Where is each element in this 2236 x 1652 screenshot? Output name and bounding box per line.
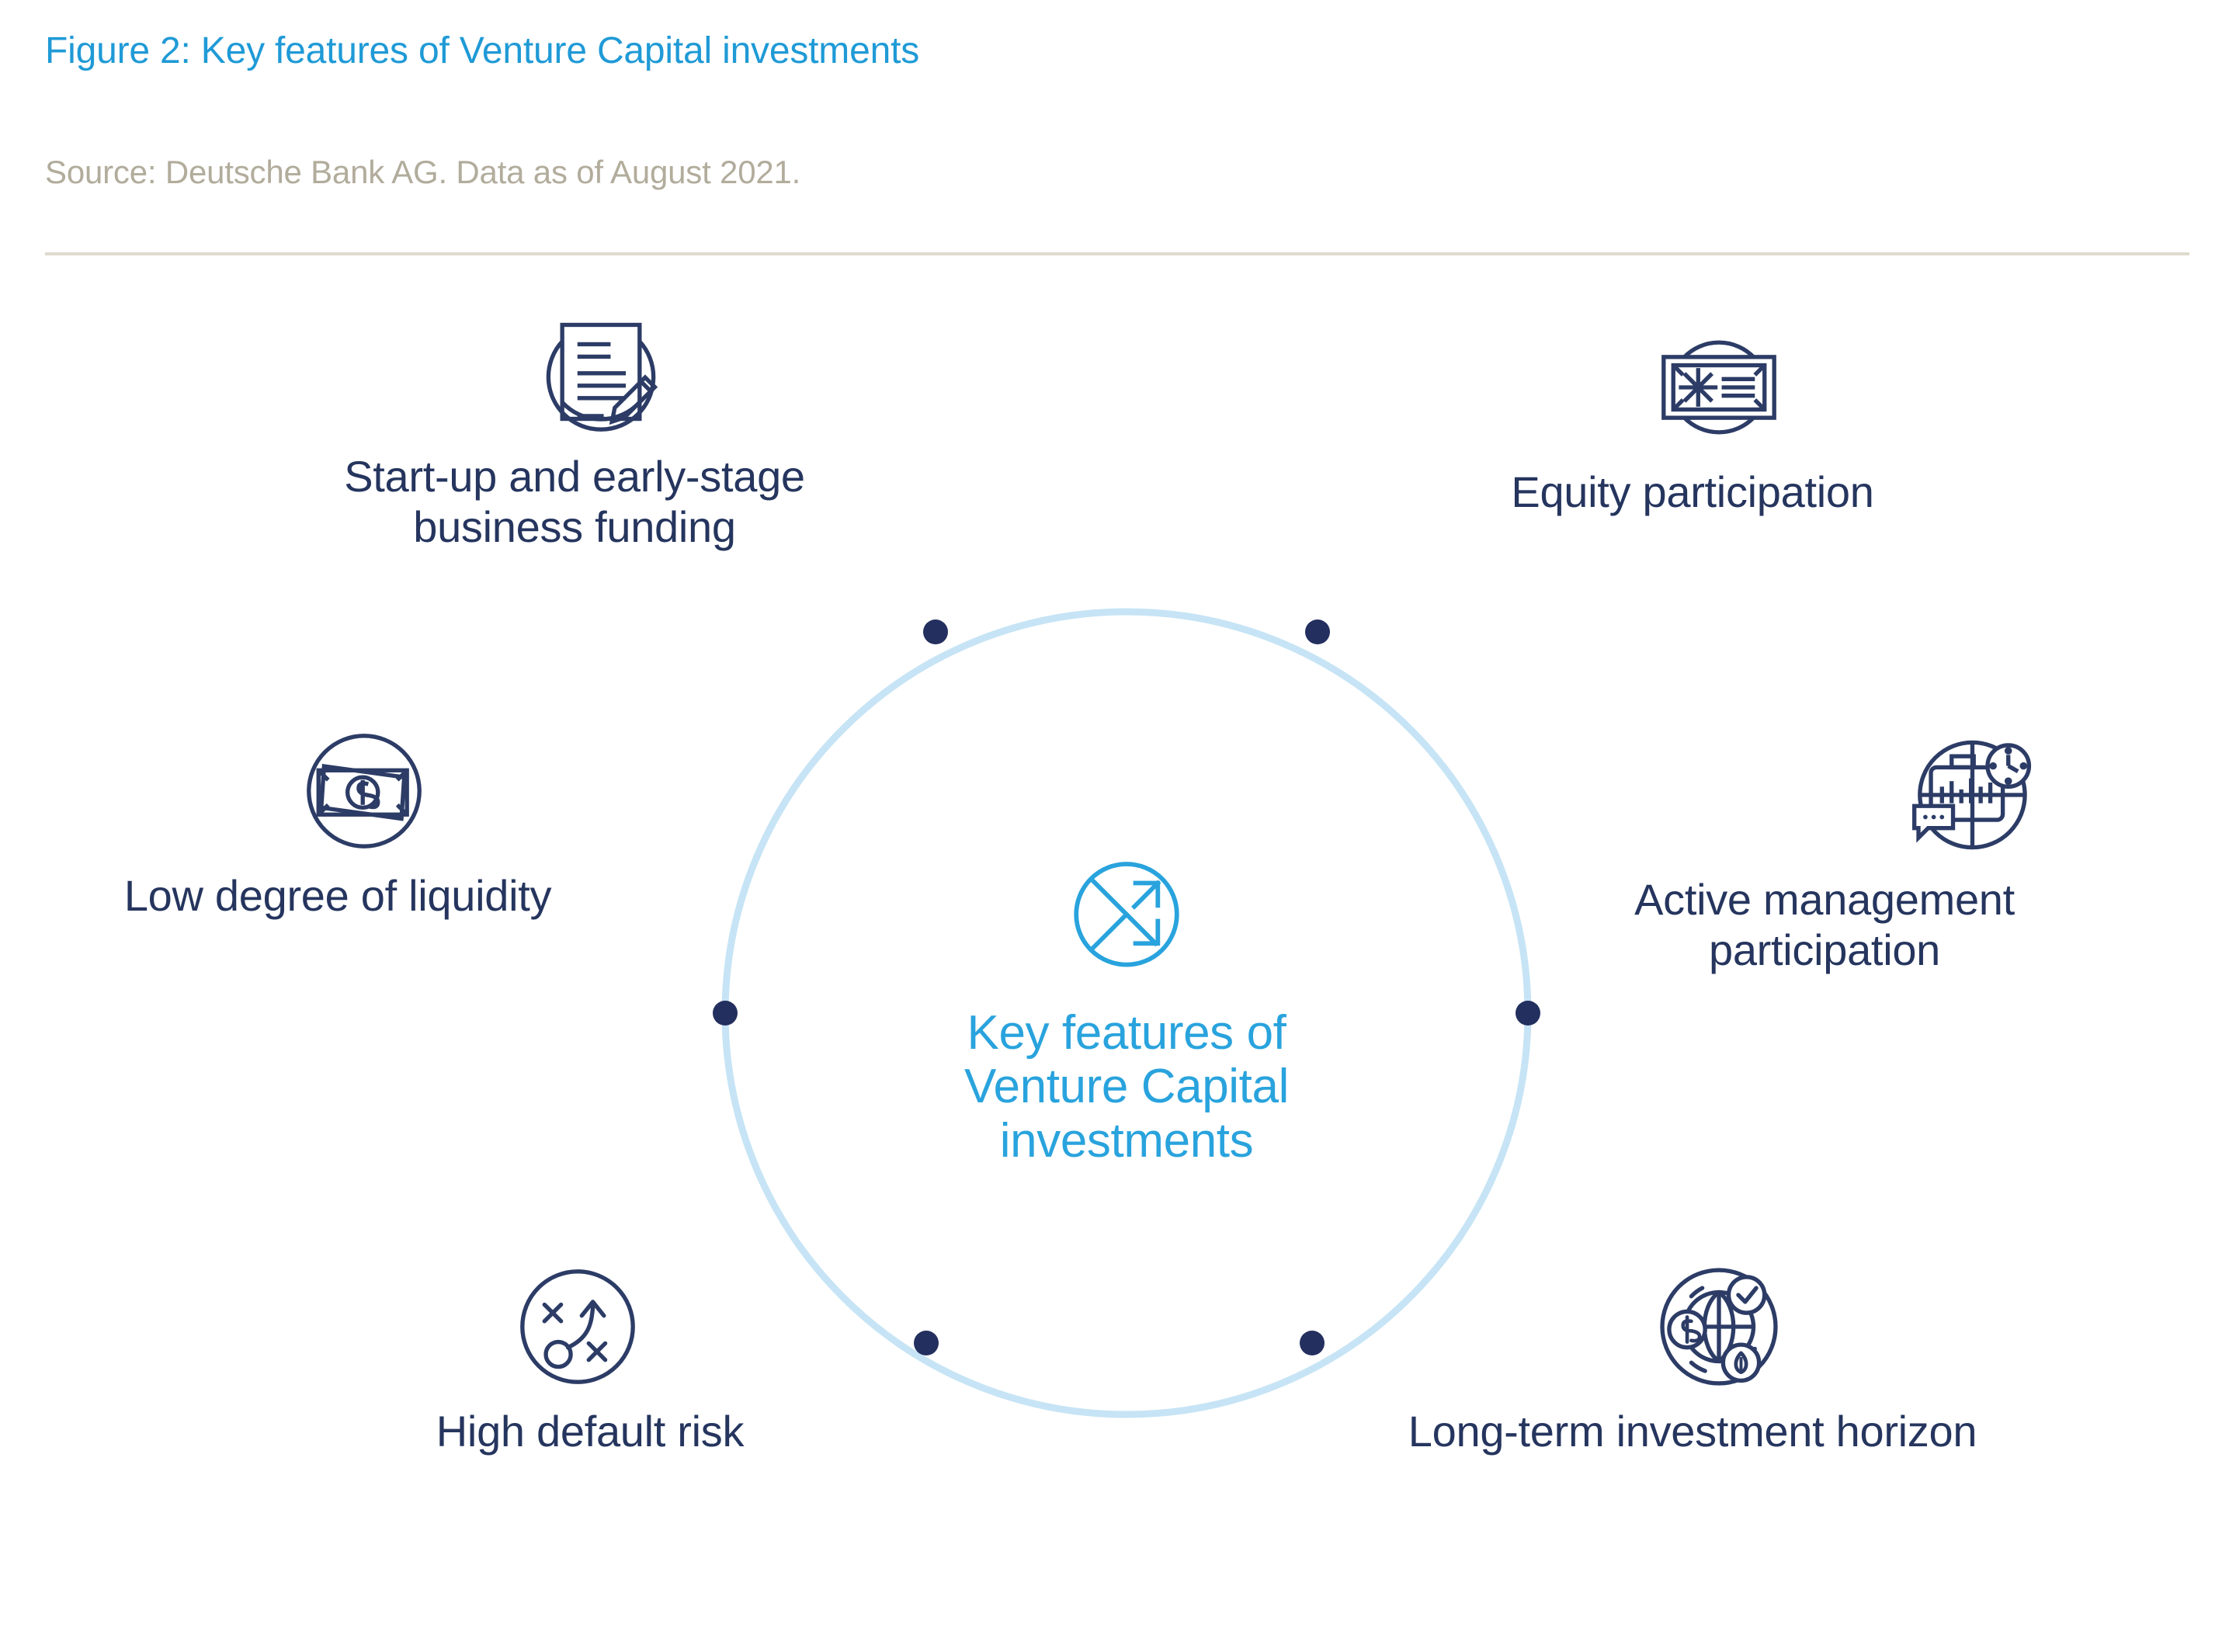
label-line-1: Long-term investment horizon xyxy=(1343,1407,2042,1457)
feature-node-startup-label: Start-up and early-stage business fundin… xyxy=(225,452,924,553)
figure-source-note: Source: Deutsche Bank AG. Data as of Aug… xyxy=(45,154,800,191)
feature-node-equity[interactable]: Equity participation xyxy=(1343,318,2042,518)
label-line-2: business funding xyxy=(225,502,924,553)
ring-dot-bottom-right xyxy=(1300,1331,1325,1355)
label-line-2: participation xyxy=(1475,925,2174,976)
banknotes-dollar-icon xyxy=(295,722,433,860)
ring-dot-right xyxy=(1516,1001,1540,1026)
hub-center-label-line-3: investments xyxy=(832,1114,1422,1168)
feature-node-equity-label: Equity participation xyxy=(1343,467,2042,518)
feature-node-horizon[interactable]: Long-term investment horizon xyxy=(1343,1258,2042,1457)
ring-dot-top-right xyxy=(1305,619,1330,644)
ring-dot-left xyxy=(713,1001,738,1026)
share-certificate-icon xyxy=(1650,318,1788,456)
feature-node-liquidity-label: Low degree of liquidity xyxy=(0,871,687,921)
hub-center-label-line-2: Venture Capital xyxy=(832,1060,1422,1113)
strategy-playbook-icon xyxy=(509,1258,647,1396)
expand-arrows-circle-icon xyxy=(1071,859,1182,970)
page-title: Figure 2: Key features of Venture Capita… xyxy=(45,29,919,72)
feature-node-active-management-label: Active management participation xyxy=(1475,875,2174,976)
label-line-1: Start-up and early-stage xyxy=(225,452,924,502)
hub-center: Key features of Venture Capital investme… xyxy=(832,859,1422,1168)
feature-node-active-management[interactable]: Active management participation xyxy=(1475,726,2174,976)
label-line-1: Active management xyxy=(1475,875,2174,925)
feature-node-startup[interactable]: Start-up and early-stage business fundin… xyxy=(225,303,924,553)
hub-center-label-line-1: Key features of xyxy=(832,1006,1422,1060)
document-pencil-icon xyxy=(532,303,670,441)
hub-center-label: Key features of Venture Capital investme… xyxy=(832,1006,1422,1168)
header-divider xyxy=(45,252,2189,255)
globe-dollar-check-leaf-icon xyxy=(1650,1258,1788,1396)
label-line-1: High default risk xyxy=(241,1407,939,1457)
feature-node-horizon-label: Long-term investment horizon xyxy=(1343,1407,2042,1457)
label-line-1: Low degree of liquidity xyxy=(0,871,687,921)
ring-dot-top-left xyxy=(923,619,948,644)
label-line-1: Equity participation xyxy=(1343,467,2042,518)
globe-chart-clock-icon xyxy=(1906,726,2044,864)
venture-capital-features-diagram: Key features of Venture Capital investme… xyxy=(0,256,2236,1652)
feature-node-default-risk-label: High default risk xyxy=(241,1407,939,1457)
feature-node-liquidity[interactable]: Low degree of liquidity xyxy=(0,722,687,921)
feature-node-default-risk[interactable]: High default risk xyxy=(241,1258,939,1457)
